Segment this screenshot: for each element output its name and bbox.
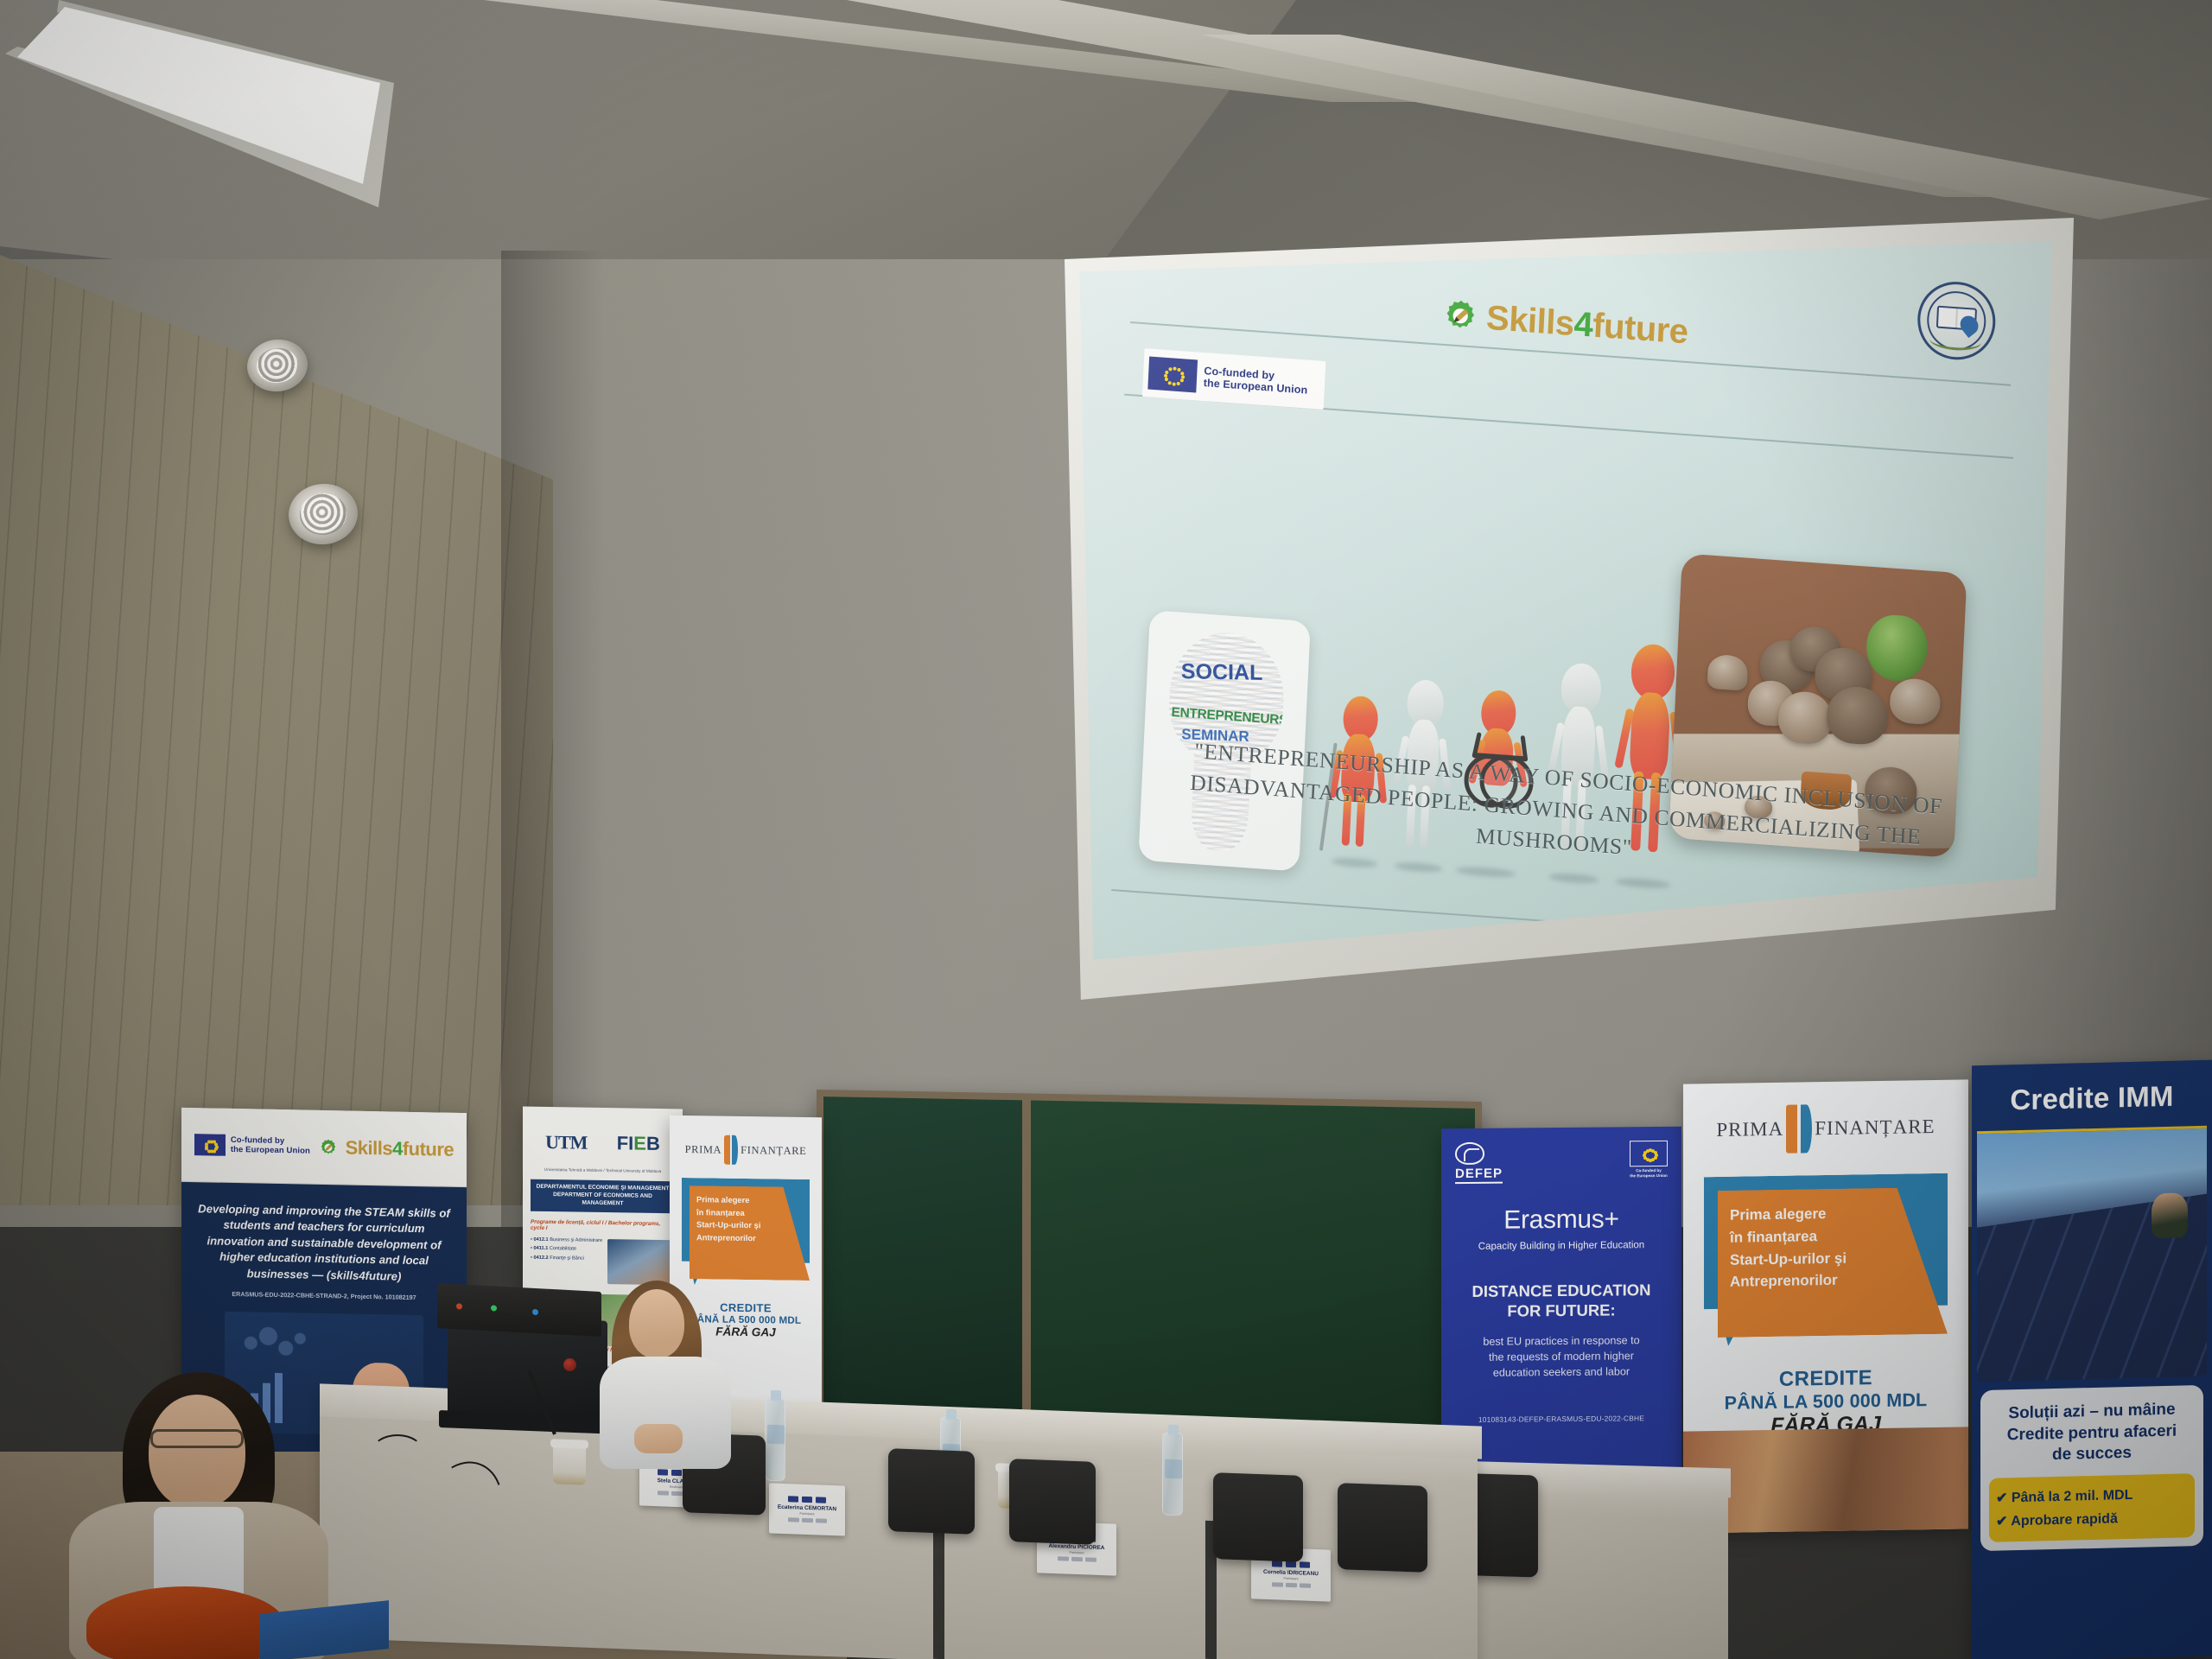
mushroom-stem [1707,654,1749,691]
utm-logo: UTM [545,1131,587,1154]
chair[interactable] [1338,1483,1427,1573]
defep-body: best EU practices in response to the req… [1455,1332,1668,1382]
body-line-3: education seekers and labor [1455,1363,1668,1381]
nameplate-role: Moderator [670,1485,683,1490]
logo-part-skills: Skills [346,1136,392,1159]
mushroom [1826,685,1889,747]
nameplate-footer-logos [788,1517,827,1523]
face [629,1289,684,1358]
university-seal-icon [1916,279,1997,362]
banner-utm-photo [607,1239,675,1285]
gear-pencil-icon [319,1137,338,1156]
quote-line-4: Antreprenorilor [1730,1268,1935,1294]
chair[interactable] [1009,1459,1096,1545]
skills4future-wordmark: Skills4future [1485,301,1688,350]
body-line-1: best EU practices in response to [1455,1332,1668,1350]
banner-utm-logos: UTM FIEB [531,1119,675,1168]
banner-s4f-header: Co-funded by the European Union Skills4f… [181,1108,467,1187]
banner-s4f-project-code: ERASMUS-EDU-2022-CBHE-STRAND-2, Project … [195,1290,453,1303]
prima-finantare-mark-icon [1786,1104,1812,1153]
face [149,1395,245,1509]
utm-caption: Universitatea Tehnică a Moldovei / Techn… [531,1167,675,1175]
eu-flag-icon [194,1134,226,1156]
banner-s4f-description: Developing and improving the STEAM skill… [195,1201,453,1286]
nameplate-name: Cornelia IDRICEANU [1263,1569,1319,1577]
chair[interactable] [1213,1472,1303,1562]
brain-icon [1455,1142,1484,1165]
chair[interactable] [888,1448,975,1535]
defep-project-code: 101083143-DEFEP-ERASMUS-EDU-2022-CBHE [1455,1414,1668,1424]
mushroom [1777,690,1834,746]
brand-finantare: FINANȚARE [741,1143,806,1157]
erasmus-programme-title: Erasmus+ [1455,1205,1668,1236]
glasses-icon [150,1429,244,1448]
credit-line-2: PÂNĂ LA 500 000 MDL [1699,1389,1953,1415]
skills4future-logo: Skills4future [1441,288,1729,361]
seal-laurel-icon [1929,330,1981,353]
microphone-head-icon[interactable] [563,1358,576,1371]
person-foreground [86,1586,285,1659]
nameplate-role: Participant [1284,1577,1299,1581]
banner-utm-dept-bar: DEPARTAMENTUL ECONOMIE ŞI MANAGEMENT DEP… [531,1179,675,1213]
skills4future-wordmark: Skills4future [346,1138,454,1159]
eu-line-2: the European Union [1630,1173,1668,1179]
mushroom [1889,677,1941,726]
quote-line-2: în finanțarea [1730,1224,1935,1249]
erasmus-action-subtitle: Capacity Building in Higher Education [1455,1240,1668,1252]
prima-finantare-mark-icon [724,1135,738,1165]
eu-emblem-text: Co-funded by the European Union [1203,365,1308,397]
logo-part-skills: Skills [1485,299,1575,343]
banner-prima-finantare-right[interactable]: PRIMA FINANȚARE Prima alegere în finanța… [1683,1079,1968,1533]
led-indicator [532,1309,538,1315]
banner-defep-header: DEFEP Co-funded by the European Union [1455,1141,1668,1184]
eu-line-2: the European Union [231,1145,310,1155]
defep-wordmark: DEFEP [1455,1166,1503,1184]
chalkboard-panel-right [1031,1100,1475,1434]
logo-part-future: future [403,1137,454,1160]
logo-part-future: future [1592,307,1688,352]
dept-name-en: DEPARTMENT OF ECONOMICS AND MANAGEMENT [533,1192,672,1209]
headline-line-2: FOR FUTURE: [1455,1300,1668,1321]
eu-flag-icon [1630,1141,1668,1166]
quote-line-3: Start-Up-urilor şi [1730,1246,1935,1272]
nameplate-role: Participant [1070,1551,1084,1555]
eu-emblem-text: Co-funded by the European Union [1630,1168,1668,1179]
banner-credite-imm[interactable]: Credite IMM Soluții azi – nu mâine Credi… [1972,1060,2212,1659]
quote-line-4: Antreprenorilor [696,1231,803,1245]
nameplate-name: Ecaterina CEMORTAN [778,1504,836,1512]
nameplate-footer-logos [1272,1582,1311,1588]
hair [86,1586,285,1659]
programs-heading: Programe de licență, ciclul I / Bachelor… [531,1218,675,1233]
headline-line-1: DISTANCE EDUCATION [1455,1280,1668,1301]
defep-headline: DISTANCE EDUCATION FOR FUTURE: [1455,1280,1668,1322]
nameplate-logos [788,1496,826,1503]
lecture-hall-scene: Co-funded by the European Union [0,0,2212,1659]
gear-pencil-icon [1441,296,1479,335]
slide-surface: Co-funded by the European Union [1076,238,2052,964]
prima-finantare-quote: Prima alegere în finanțarea Start-Up-uri… [1704,1173,1948,1365]
world-map-icon [233,1322,313,1369]
thumbs-up-icon [2152,1192,2188,1238]
quote-line-3: Start-Up-urilor şi [696,1218,803,1232]
projection-screen[interactable]: Co-funded by the European Union [1058,218,2074,1000]
eu-emblem-text: Co-funded by the European Union [231,1136,310,1156]
imm-benefits-list: ✔ Până la 2 mil. MDL ✔ Aprobare rapidă [1989,1473,2195,1542]
imm-slogan: Soluții azi – nu mâine Credite pentru af… [1989,1399,2195,1468]
water-bottle[interactable] [765,1398,785,1482]
chalkboard-panel-left [823,1096,1022,1427]
nameplate-footer-logos [1058,1556,1096,1562]
herb-bunch [1865,613,1929,683]
prima-finantare-logo: PRIMA FINANȚARE [1699,1103,1953,1155]
nameplate[interactable]: Ecaterina CEMORTAN Participant [769,1483,845,1535]
imm-title: Credite IMM [1972,1060,2212,1132]
eu-flag-icon [1147,357,1198,393]
brand-prima: PRIMA [685,1143,722,1157]
led-indicator [491,1305,497,1311]
prima-finantare-logo: PRIMA FINANȚARE [678,1135,813,1166]
brand-prima: PRIMA [1716,1118,1783,1141]
hands [634,1424,683,1453]
av-controller-box[interactable] [437,1283,601,1337]
imm-solar-photo [1977,1126,2207,1382]
nameplate-role: Participant [800,1512,815,1516]
wordcloud-word-social: SOCIAL [1181,659,1263,686]
wall-corner-shadow [501,251,605,1227]
fieb-logo: FIEB [617,1132,660,1155]
imm-slogan-card: Soluții azi – nu mâine Credite pentru af… [1980,1385,2203,1552]
brand-finantare: FINANȚARE [1815,1116,1935,1140]
water-bottle[interactable] [1162,1433,1183,1516]
logo-part-4: 4 [392,1137,403,1159]
person-presenter [581,1281,762,1453]
list-item: ✔ Aprobare rapidă [1996,1506,2188,1535]
body-line-2: the requests of modern higher [1455,1348,1668,1365]
eu-cofunded-emblem: Co-funded by the European Union [1142,348,1325,410]
skills4future-logo: Skills4future [319,1137,454,1159]
led-indicator [456,1303,462,1309]
cable [372,1434,423,1469]
logo-part-4: 4 [1573,305,1594,344]
